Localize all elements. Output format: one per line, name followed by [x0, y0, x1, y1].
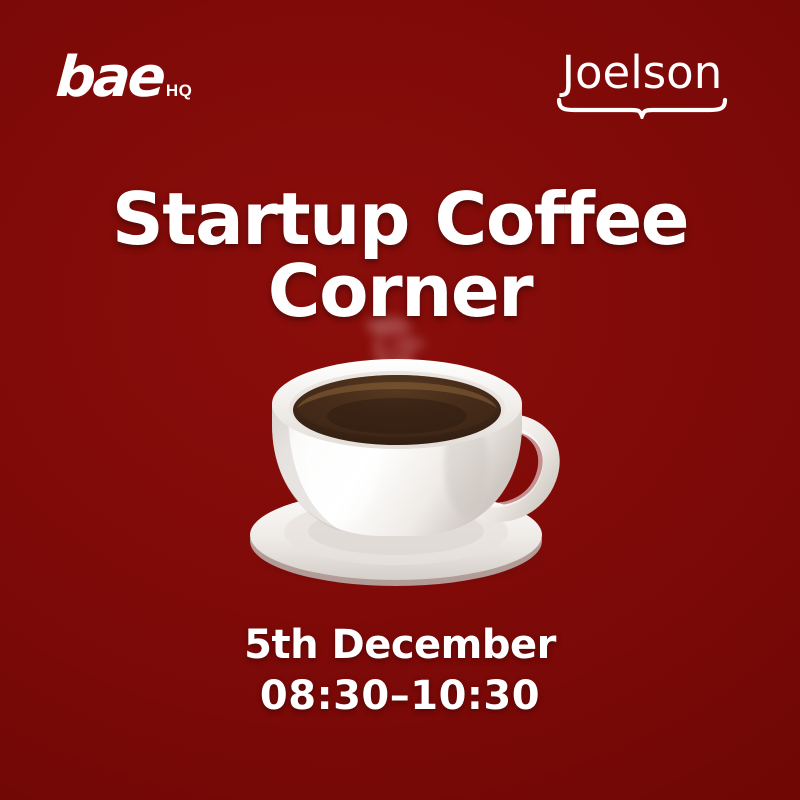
hero-image: [0, 296, 800, 592]
event-details: 5th December 08:30–10:30: [0, 622, 800, 723]
event-date: 5th December: [0, 622, 800, 669]
logo-bae-hq[interactable]: bae HQ: [56, 52, 192, 104]
logo-bae-wordmark: bae: [54, 52, 164, 104]
event-time: 08:30–10:30: [0, 669, 800, 723]
logo-joelson[interactable]: Joelson: [556, 50, 728, 124]
coffee-liquid: [293, 375, 501, 445]
brace-underline-icon: [556, 97, 728, 124]
logo-bae-hq-suffix: HQ: [166, 81, 193, 101]
page-title-line-1: Startup Coffee: [60, 184, 740, 255]
logo-joelson-wordmark: Joelson: [562, 46, 723, 99]
event-poster: bae HQ Joelson Startup Coffee Corner: [0, 0, 800, 800]
coffee-cup-icon: [230, 296, 570, 592]
